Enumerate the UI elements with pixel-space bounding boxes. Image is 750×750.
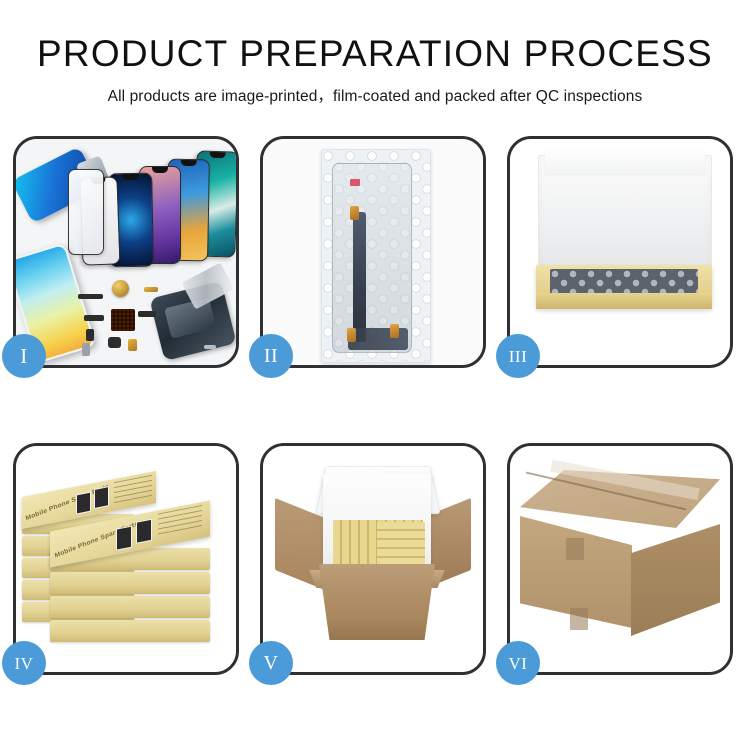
page-subtitle: All products are image-printed，film-coat… <box>0 75 750 106</box>
process-step-6[interactable]: VI <box>507 443 733 675</box>
yellow-inner-box <box>536 265 712 309</box>
box-front-lip <box>536 293 712 309</box>
box-spec-text-block <box>158 505 202 538</box>
spare-part-speaker <box>112 280 129 297</box>
step-badge-3: III <box>496 334 540 378</box>
gold-connector-left <box>347 328 356 342</box>
header: PRODUCT PREPARATION PROCESS All products… <box>0 0 750 106</box>
step-numeral-5: V <box>264 653 279 673</box>
step-3-image <box>510 139 730 365</box>
process-step-3[interactable]: III <box>507 136 733 368</box>
step-badge-1: I <box>2 334 46 378</box>
gold-connector-top <box>350 206 359 220</box>
process-step-2[interactable]: II <box>260 136 486 368</box>
step-numeral-3: III <box>509 348 527 365</box>
process-step-5[interactable]: V <box>260 443 486 675</box>
step-4-image: Mobile Phone Spare Parts Mobile Phone Sp… <box>16 446 236 672</box>
step-numeral-4: IV <box>15 655 34 672</box>
yellow-boxes-row-right <box>377 522 425 568</box>
box-art-screen <box>116 526 132 551</box>
step-badge-6: VI <box>496 641 540 685</box>
spare-part-screws <box>204 345 216 349</box>
white-foam-lid <box>538 155 712 279</box>
box-art-screen <box>136 519 152 544</box>
carton-tab-upper <box>566 538 584 560</box>
step-1-image <box>16 139 236 365</box>
carton-body <box>311 564 443 640</box>
spare-part-connector <box>128 339 137 351</box>
step-6-image <box>510 446 730 672</box>
gold-connector-right <box>390 324 399 338</box>
spare-part-bracket <box>86 329 94 341</box>
box-art-screen <box>76 492 91 515</box>
page-title: PRODUCT PREPARATION PROCESS <box>0 0 750 75</box>
product-preparation-infographic: PRODUCT PREPARATION PROCESS All products… <box>0 0 750 750</box>
step-numeral-2: II <box>264 346 278 366</box>
spare-part-sim-tray <box>82 343 90 356</box>
bubble-wrap-bag <box>321 149 431 363</box>
box-spec-text-block <box>114 475 152 504</box>
process-steps-grid: I II <box>13 136 737 675</box>
step-numeral-1: I <box>20 346 28 367</box>
screen-flex-cable <box>353 212 366 342</box>
retail-box <box>50 620 210 642</box>
retail-box <box>50 572 210 594</box>
retail-box <box>50 596 210 618</box>
step-2-image <box>263 139 483 365</box>
wrapped-screen-assembly <box>332 163 412 353</box>
spare-part-camera <box>108 337 121 348</box>
spare-part-cable <box>84 315 104 321</box>
step-numeral-6: VI <box>509 655 528 672</box>
step-badge-4: IV <box>2 641 46 685</box>
step-badge-2: II <box>249 334 293 378</box>
pink-label-sticker <box>350 179 360 186</box>
process-step-4[interactable]: Mobile Phone Spare Parts Mobile Phone Sp… <box>13 443 239 675</box>
spare-part-strip <box>78 294 103 299</box>
tempered-glass-film <box>68 169 104 255</box>
spare-part-flex-gold <box>144 287 158 292</box>
process-step-1[interactable]: I <box>13 136 239 368</box>
spare-part-chip-grid <box>111 309 135 331</box>
spare-part-button-flex <box>138 311 156 317</box>
stacked-retail-boxes: Mobile Phone Spare Parts Mobile Phone Sp… <box>22 474 234 659</box>
step-5-image <box>263 446 483 672</box>
step-badge-5: V <box>249 641 293 685</box>
carton-side-face <box>631 524 720 636</box>
carton-tab-lower <box>570 608 588 630</box>
box-art-screen <box>94 486 109 509</box>
bubble-wrapped-contents <box>550 269 698 295</box>
